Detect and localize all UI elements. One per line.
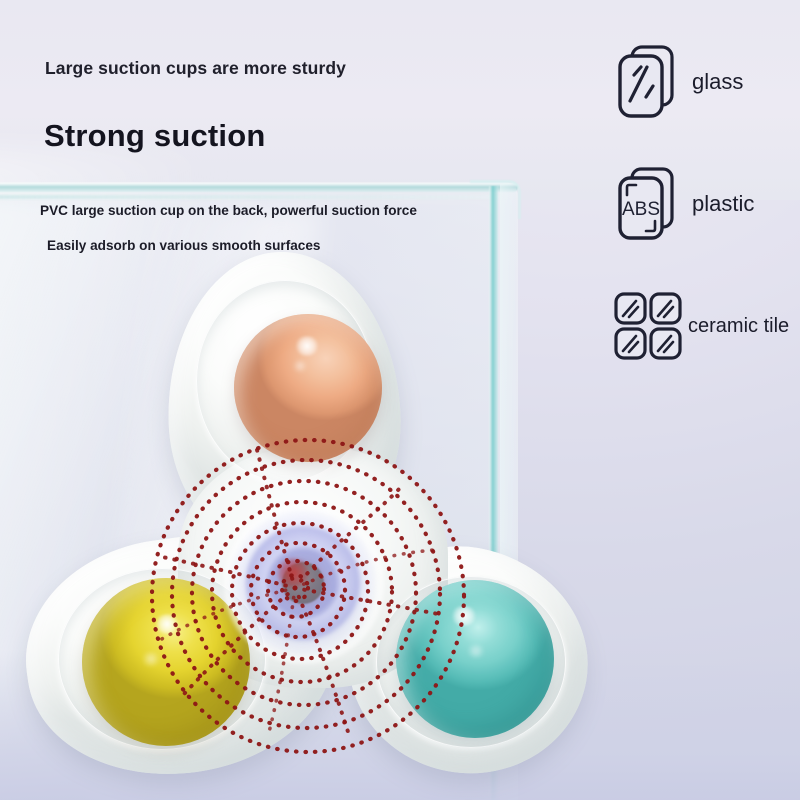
material-list: glass ABS plastic [612,34,800,400]
glass-corner-highlight [470,180,521,219]
headline-subtitle: Large suction cups are more sturdy [45,58,346,79]
tile-grid-icon [612,290,684,362]
rotation-spiral-overlay [138,426,478,766]
material-label-plastic: plastic [692,191,754,217]
material-item-glass[interactable]: glass [612,34,800,130]
feature-line-2: Easily adsorb on various smooth surfaces [47,238,320,253]
material-label-glass: glass [692,69,743,95]
product-marketing-image: Large suction cups are more sturdy Stron… [0,0,800,800]
ball-peach-highlight-secondary [292,360,308,372]
glass-top-edge [0,183,518,192]
ball-peach-highlight [294,336,320,356]
glass-top-edge-secondary [0,195,500,199]
glass-panes-icon [612,42,684,122]
feature-line-1: PVC large suction cup on the back, power… [40,203,417,218]
material-label-ceramic-tile: ceramic tile [688,315,789,338]
abs-badge-text: ABS [622,199,660,220]
abs-sheets-icon: ABS [612,164,684,244]
page-title: Strong suction [44,118,266,154]
spinner-toy [18,258,598,788]
material-item-ceramic-tile[interactable]: ceramic tile [612,278,800,374]
material-item-plastic[interactable]: ABS plastic [612,156,800,252]
